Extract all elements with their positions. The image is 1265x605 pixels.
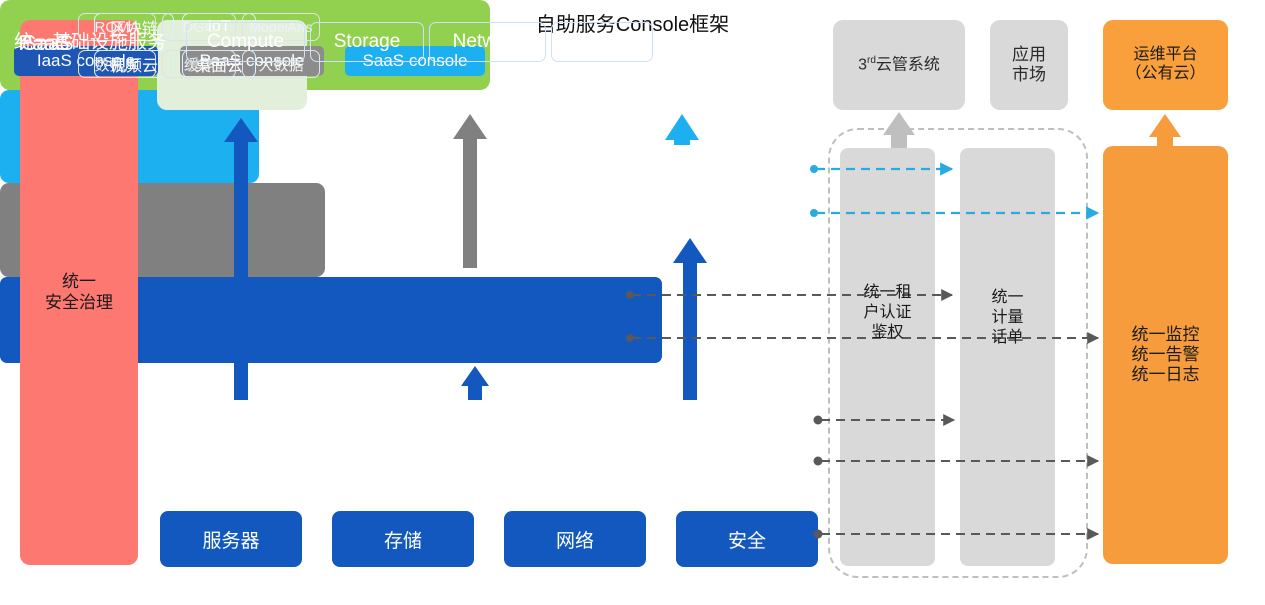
arrow-paas-to-console xyxy=(453,114,487,268)
arrow-ops-column-to-ops-platform xyxy=(1149,114,1181,146)
arrow-infra-to-api-gateway xyxy=(224,118,258,400)
arrow-shared-services-to-third-cloud xyxy=(883,112,915,148)
tenant-auth-label: 统一租 户认证 鉴权 xyxy=(840,283,935,343)
arrow-infra-to-saas xyxy=(673,238,707,400)
arrow-infra-to-paas xyxy=(461,366,489,400)
flow-arrows-overlay xyxy=(0,0,1265,605)
arrow-saas-to-console xyxy=(665,114,699,145)
metering-billing-label: 统一 计量 话单 xyxy=(960,288,1055,348)
